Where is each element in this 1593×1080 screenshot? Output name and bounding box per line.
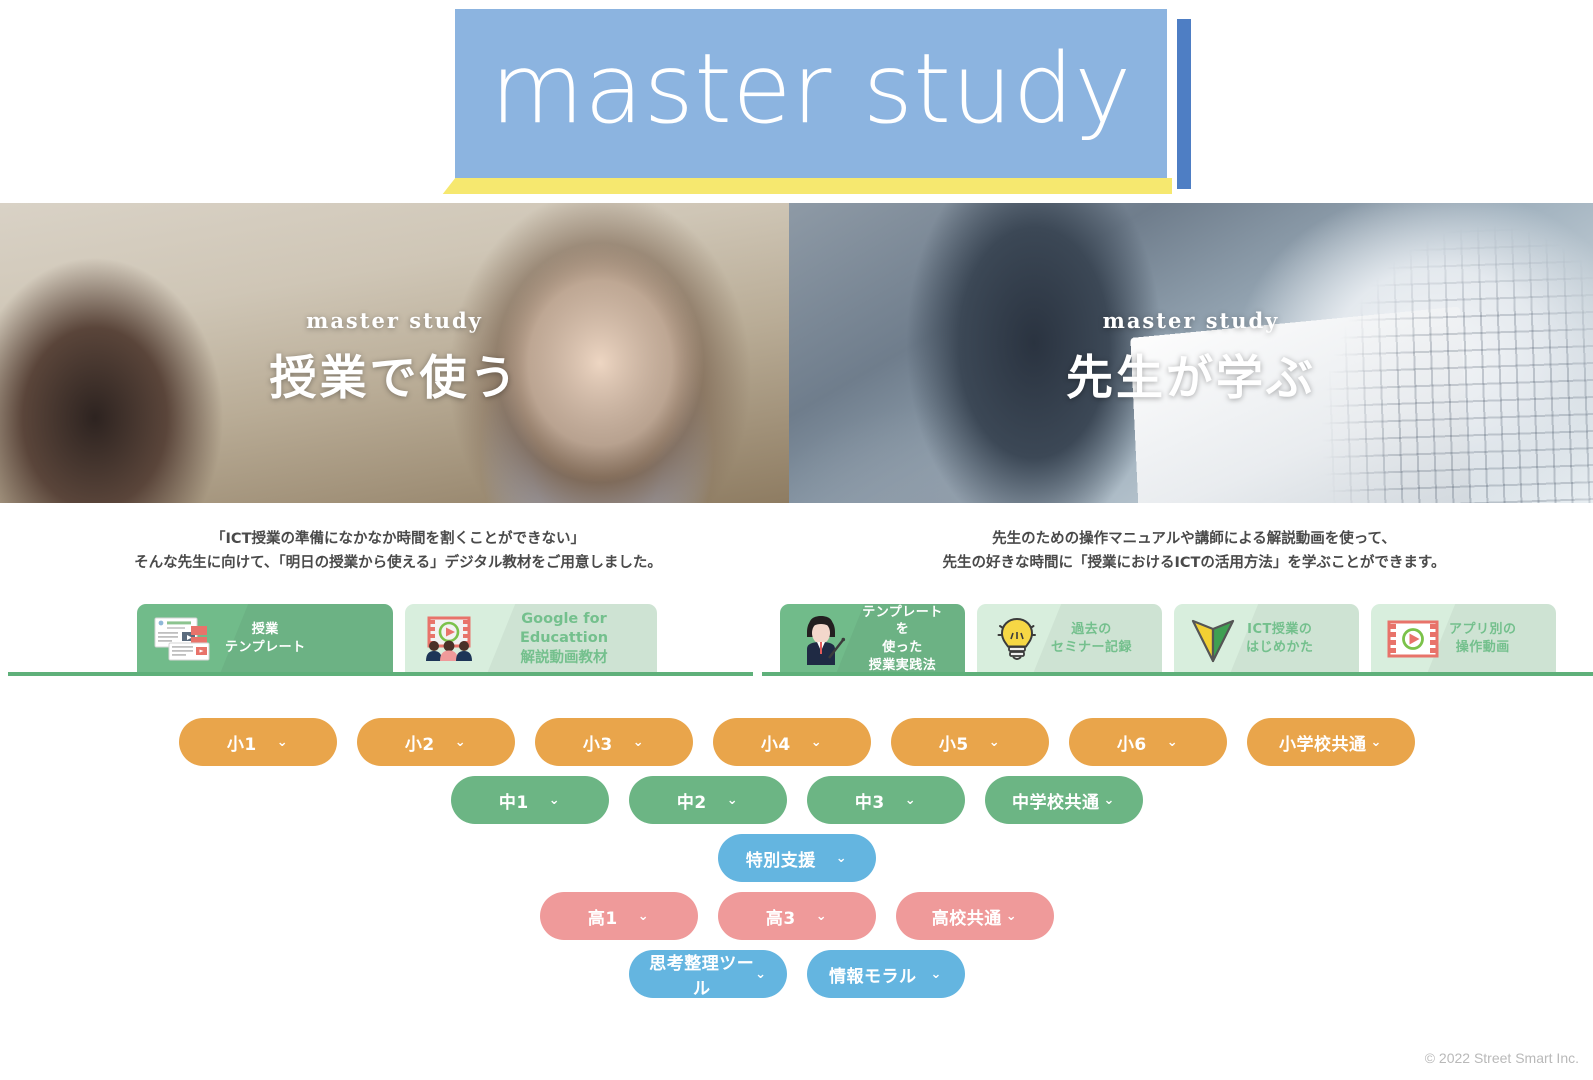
chevron-down-icon: ⌄ [931,968,942,981]
grade-button-j1[interactable]: 中1 ⌄ [451,776,609,824]
logo-text: master study [455,9,1167,178]
chevron-down-icon: ⌄ [811,736,822,749]
row-tools: 思考整理ツール ⌄ 情報モラル ⌄ [0,950,1593,998]
row-special-support: 特別支援 ⌄ [0,834,1593,882]
film-play-icon [1387,618,1439,660]
hero-caption: master study 授業で使う [0,308,789,408]
grade-button-junior-high-common[interactable]: 中学校共通 ⌄ [985,776,1143,824]
row-high-school: 高1 ⌄ 高3 ⌄ 高校共通 ⌄ [0,892,1593,940]
tab-label: 過去の セミナー記録 [1051,621,1132,656]
pill-label: 小5 [939,730,969,755]
description-row: 「ICT授業の準備になかなか時間を割くことができない」 そんな先生に向けて、「明… [0,528,1593,576]
grade-button-h1[interactable]: 高1 ⌄ [540,892,698,940]
grade-filter-rows: 小1 ⌄ 小2 ⌄ 小3 ⌄ 小4 ⌄ 小5 ⌄ 小6 ⌄ [0,718,1593,1008]
tab-label: アプリ別の 操作動画 [1449,621,1517,656]
chevron-down-icon: ⌄ [638,910,649,923]
pill-label: 中2 [677,788,707,813]
chevron-down-icon: ⌄ [989,736,1000,749]
chevron-down-icon: ⌄ [816,910,827,923]
pill-label: 高3 [766,904,796,929]
tab-groups: 授業 テンプレート [0,604,1593,674]
tabs-use-in-class: 授業 テンプレート [0,604,762,674]
hero-title: 授業で使う [0,339,789,408]
tool-button-thinking-organizer[interactable]: 思考整理ツール ⌄ [629,950,787,998]
pill-label: 特別支援 [746,846,816,871]
chevron-down-icon: ⌄ [1371,736,1382,749]
chevron-down-icon: ⌄ [633,736,644,749]
chevron-down-icon: ⌄ [727,794,738,807]
tab-lesson-template[interactable]: 授業 テンプレート [137,604,393,674]
pill-label: 小2 [405,730,435,755]
chevron-down-icon: ⌄ [1104,794,1115,807]
pill-label: 思考整理ツール [649,949,756,999]
teacher-icon [796,613,846,665]
grade-button-j2[interactable]: 中2 ⌄ [629,776,787,824]
pill-label: 小学校共通 [1279,730,1367,755]
grade-button-high-school-common[interactable]: 高校共通 ⌄ [896,892,1054,940]
video-people-icon [421,616,477,662]
description-teacher-learn: 先生のための操作マニュアルや講師による解説動画を使って、 先生の好きな時間に「授… [796,528,1592,576]
pill-label: 高校共通 [932,904,1002,929]
pill-label: 小1 [227,730,257,755]
chevron-down-icon: ⌄ [755,968,766,981]
chevron-down-icon: ⌄ [905,794,916,807]
grade-button-special-support[interactable]: 特別支援 ⌄ [718,834,876,882]
pill-label: 中3 [855,788,885,813]
tab-app-operation-videos[interactable]: アプリ別の 操作動画 [1371,604,1556,674]
chevron-down-icon: ⌄ [836,852,847,865]
description-line-2: そんな先生に向けて、「明日の授業から使える」デジタル教材をご用意しました。 [0,552,796,576]
description-line-1: 先生のための操作マニュアルや講師による解説動画を使って、 [796,528,1592,552]
hero-caption: master study 先生が学ぶ [789,308,1593,408]
chevron-down-icon: ⌄ [277,736,288,749]
hero-subtitle: master study [789,308,1593,333]
beginner-leaf-icon [1190,615,1236,663]
row-elementary: 小1 ⌄ 小2 ⌄ 小3 ⌄ 小4 ⌄ 小5 ⌄ 小6 ⌄ [0,718,1593,766]
chevron-down-icon: ⌄ [1167,736,1178,749]
description-use-in-class: 「ICT授業の準備になかなか時間を割くことができない」 そんな先生に向けて、「明… [0,528,796,576]
hero-subtitle: master study [0,308,789,333]
pill-label: 小4 [761,730,791,755]
row-junior-high: 中1 ⌄ 中2 ⌄ 中3 ⌄ 中学校共通 ⌄ [0,776,1593,824]
logo-edge-shadow [1177,19,1191,189]
logo-yellow-accent-bar [463,178,1172,194]
grade-button-e6[interactable]: 小6 ⌄ [1069,718,1227,766]
grade-button-e5[interactable]: 小5 ⌄ [891,718,1049,766]
grade-button-e1[interactable]: 小1 ⌄ [179,718,337,766]
page-root: master study master study 授業で使う master s… [0,0,1593,1080]
pill-label: 中1 [499,788,529,813]
grade-button-e3[interactable]: 小3 ⌄ [535,718,693,766]
tab-past-seminars[interactable]: 過去の セミナー記録 [977,604,1162,674]
grade-button-e2[interactable]: 小2 ⌄ [357,718,515,766]
tab-label: ICT授業の はじめかた [1246,621,1314,656]
lightbulb-icon [993,616,1041,662]
tab-ict-getting-started[interactable]: ICT授業の はじめかた [1174,604,1359,674]
footer-copyright: © 2022 Street Smart Inc. [1425,1050,1579,1066]
pill-label: 小3 [583,730,613,755]
pill-label: 情報モラル [829,962,917,987]
hero-banner-row: master study 授業で使う master study 先生が学ぶ [0,203,1593,503]
grade-button-j3[interactable]: 中3 ⌄ [807,776,965,824]
grade-button-h3[interactable]: 高3 ⌄ [718,892,876,940]
chevron-down-icon: ⌄ [1006,910,1017,923]
chevron-down-icon: ⌄ [549,794,560,807]
hero-use-in-class[interactable]: master study 授業で使う [0,203,789,503]
pill-label: 小6 [1117,730,1147,755]
grade-button-elementary-common[interactable]: 小学校共通 ⌄ [1247,718,1415,766]
hero-teacher-learn[interactable]: master study 先生が学ぶ [789,203,1593,503]
tab-label: テンプレートを 使った 授業実践法 [856,604,949,674]
description-line-2: 先生の好きな時間に「授業におけるICTの活用方法」を学ぶことができます。 [796,552,1592,576]
chevron-down-icon: ⌄ [455,736,466,749]
pill-label: 高1 [588,904,618,929]
tabs-teacher-learn: テンプレートを 使った 授業実践法 [762,604,1593,674]
tab-label: Google for Educattion 解説動画教材 [487,610,641,669]
tab-label: 授業 テンプレート [225,621,306,656]
documents-icon [153,616,215,662]
description-line-1: 「ICT授業の準備になかなか時間を割くことができない」 [0,528,796,552]
tool-button-information-morals[interactable]: 情報モラル ⌄ [807,950,965,998]
tab-google-for-education[interactable]: Google for Educattion 解説動画教材 [405,604,657,674]
hero-title: 先生が学ぶ [789,339,1593,408]
tab-practice-method[interactable]: テンプレートを 使った 授業実践法 [780,604,965,674]
tab-group-underline [8,672,753,676]
grade-button-e4[interactable]: 小4 ⌄ [713,718,871,766]
site-logo: master study [455,9,1178,194]
pill-label: 中学校共通 [1012,788,1100,813]
